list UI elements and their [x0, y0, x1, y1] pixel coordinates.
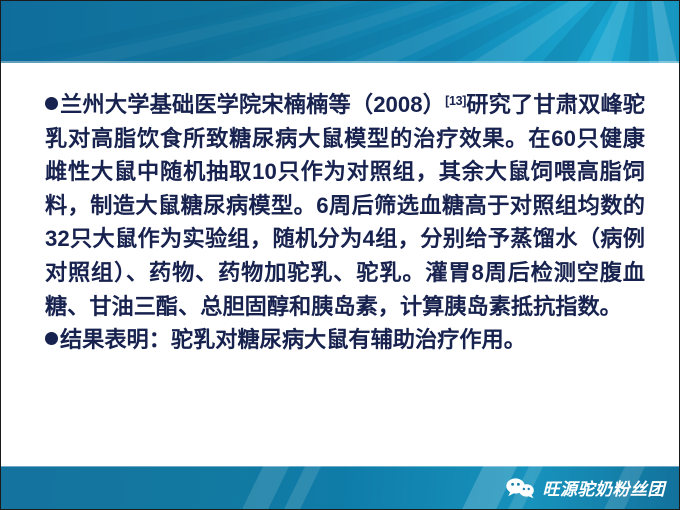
paragraph-text-part-1: 兰州大学基础医学院宋楠楠等（2008） [60, 92, 445, 117]
slide-content-area: 兰州大学基础医学院宋楠楠等（2008）[13]研究了甘肃双峰驼乳对高脂饮食所致糖… [1, 63, 680, 466]
bullet-point-icon [45, 332, 58, 345]
brand-lockup: 旺源驼奶粉丝团 [505, 466, 666, 509]
conclusion-text: 结果表明：驼乳对糖尿病大鼠有辅助治疗作用。 [60, 327, 526, 352]
paragraph-text-part-2: 研究了甘肃双峰驼乳对高脂饮食所致糖尿病大鼠模型的治疗效果。在60只健康雌性大鼠中… [45, 92, 645, 319]
bullet-point-icon [45, 97, 58, 110]
paragraph-conclusion: 结果表明：驼乳对糖尿病大鼠有辅助治疗作用。 [45, 323, 645, 357]
top-decorative-banner [1, 1, 680, 63]
brand-name-label: 旺源驼奶粉丝团 [543, 475, 666, 500]
bottom-brand-bar: 旺源驼奶粉丝团 [1, 466, 680, 509]
paragraph-study-description: 兰州大学基础医学院宋楠楠等（2008）[13]研究了甘肃双峰驼乳对高脂饮食所致糖… [45, 85, 645, 323]
slide-canvas: 兰州大学基础医学院宋楠楠等（2008）[13]研究了甘肃双峰驼乳对高脂饮食所致糖… [0, 0, 680, 510]
banner-ray-pattern [1, 1, 680, 63]
wechat-icon [505, 477, 535, 499]
reference-superscript: [13] [445, 94, 466, 108]
body-text-block: 兰州大学基础医学院宋楠楠等（2008）[13]研究了甘肃双峰驼乳对高脂饮食所致糖… [45, 85, 645, 357]
